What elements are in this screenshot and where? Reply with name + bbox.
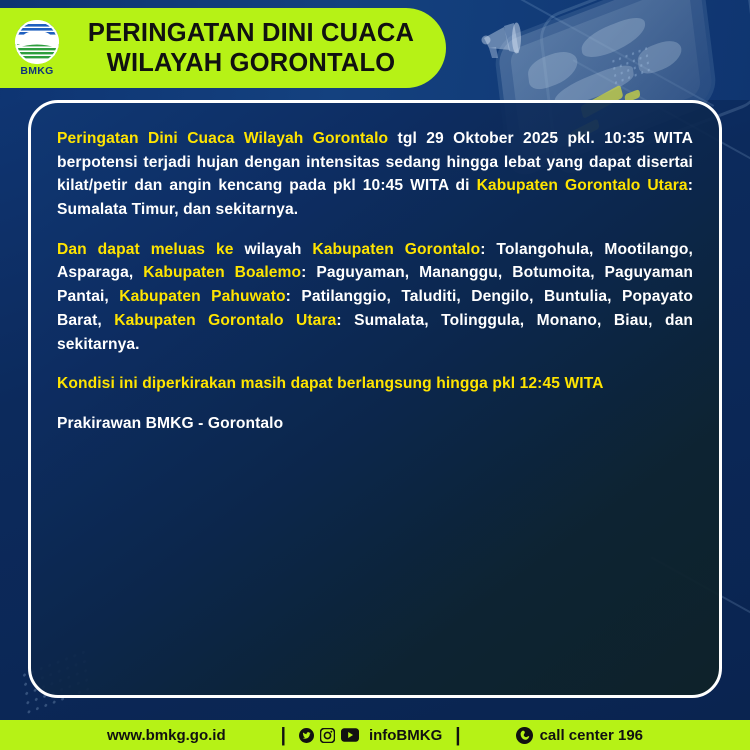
- highlighted-text: Kabupaten Pahuwato: [119, 288, 285, 305]
- body-text: wilayah: [234, 241, 313, 258]
- highlighted-text: Kabupaten Boalemo: [143, 264, 301, 281]
- title-line-2: WILAYAH GORONTALO: [74, 48, 428, 78]
- dot-grid-decor: [610, 45, 651, 86]
- call-center-label[interactable]: call center 196: [540, 727, 643, 744]
- header-banner: BMKG PERINGATAN DINI CUACA WILAYAH GORON…: [0, 8, 446, 88]
- body-text: Prakirawan BMKG - Gorontalo: [57, 415, 283, 432]
- highlighted-text: Dan dapat meluas ke: [57, 241, 234, 258]
- map-landmass-shape: [580, 12, 647, 63]
- bmkg-logo: BMKG: [0, 20, 74, 77]
- weather-warning-poster: BMKG PERINGATAN DINI CUACA WILAYAH GORON…: [0, 0, 750, 750]
- warning-signature: Prakirawan BMKG - Gorontalo: [57, 412, 693, 436]
- bmkg-logo-label: BMKG: [20, 65, 53, 77]
- instagram-icon[interactable]: [320, 728, 335, 743]
- page-title: PERINGATAN DINI CUACA WILAYAH GORONTALO: [74, 18, 446, 78]
- highlighted-text: Kabupaten Gorontalo Utara: [114, 312, 336, 329]
- highlighted-text: Kondisi ini diperkirakan masih dapat ber…: [57, 375, 604, 392]
- social-links: infoBMKG: [299, 727, 442, 744]
- twitter-icon[interactable]: [299, 728, 314, 743]
- title-line-1: PERINGATAN DINI CUACA: [74, 18, 428, 48]
- highlighted-text: Kabupaten Gorontalo Utara: [477, 177, 688, 194]
- highlighted-text: Peringatan Dini Cuaca Wilayah Gorontalo: [57, 130, 388, 147]
- map-landmass-shape: [527, 45, 579, 94]
- megaphone-icon: [478, 20, 526, 62]
- highlighted-text: Kabupaten Gorontalo: [312, 241, 480, 258]
- footer-website[interactable]: www.bmkg.go.id: [107, 727, 226, 744]
- decorative-line: [486, 0, 714, 107]
- warning-paragraph-2: Dan dapat meluas ke wilayah Kabupaten Go…: [57, 238, 693, 356]
- footer-separator: |: [281, 726, 286, 745]
- footer-separator: |: [455, 726, 460, 745]
- social-handle[interactable]: infoBMKG: [369, 727, 442, 744]
- map-landmass-shape: [637, 35, 683, 78]
- phone-icon: [516, 727, 533, 744]
- footer-bar: www.bmkg.go.id |: [0, 720, 750, 750]
- call-center-group: call center 196: [516, 727, 643, 744]
- youtube-icon[interactable]: [341, 728, 359, 742]
- bmkg-circular-emblem-icon: [15, 20, 59, 64]
- warning-paragraph-3: Kondisi ini diperkirakan masih dapat ber…: [57, 372, 693, 396]
- warning-content-card: Peringatan Dini Cuaca Wilayah Gorontalo …: [28, 100, 722, 698]
- warning-paragraph-1: Peringatan Dini Cuaca Wilayah Gorontalo …: [57, 127, 693, 222]
